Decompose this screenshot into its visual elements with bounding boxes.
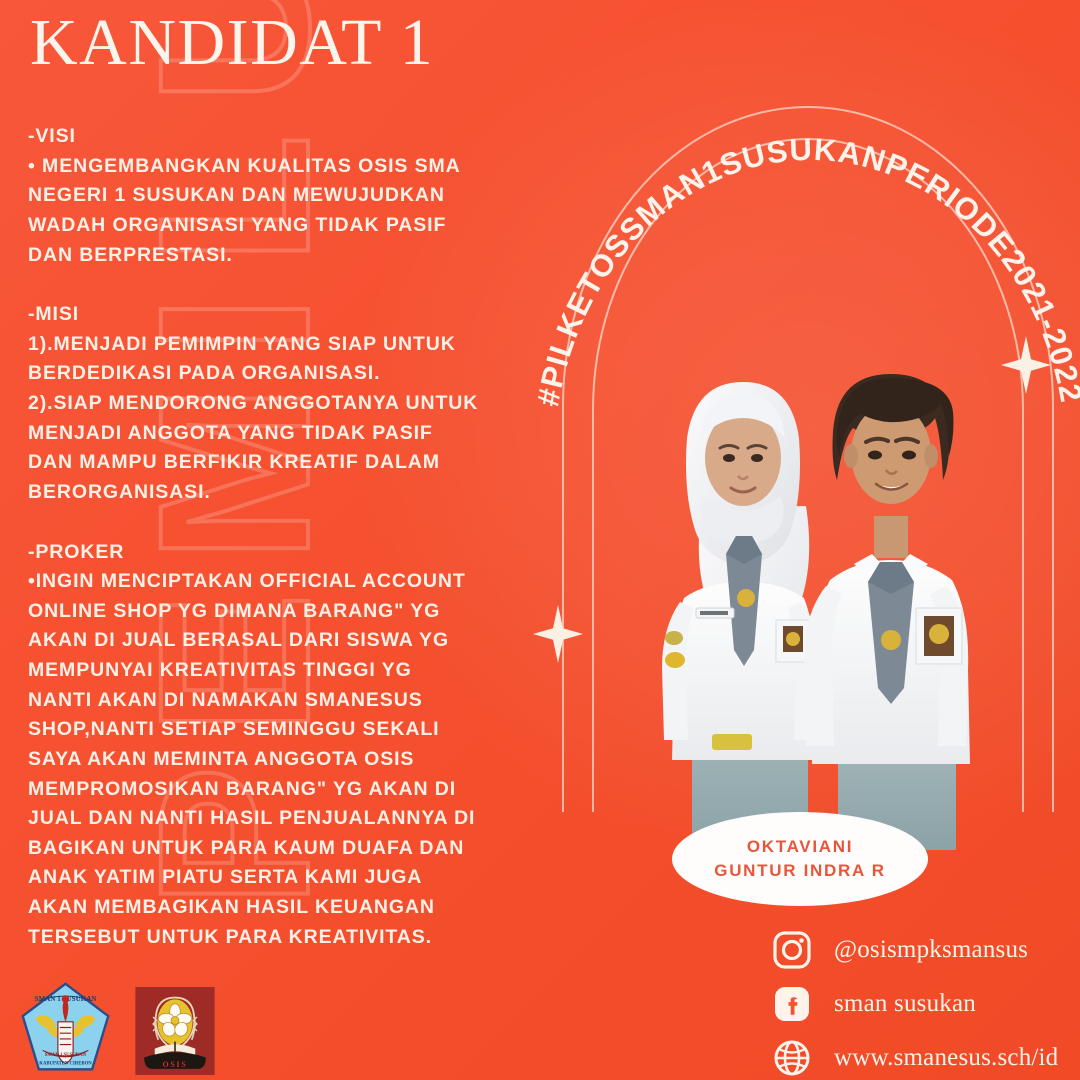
section-proker: -PROKER •INGIN MENCIPTAKAN OFFICIAL ACCO… bbox=[28, 538, 533, 953]
social-row-facebook[interactable]: sman susukan bbox=[772, 984, 1058, 1024]
vision-mission-program-text: -VISI • MENGEMBANGKAN KUALITAS OSIS SMA … bbox=[28, 122, 533, 952]
section-body: 1).MENJADI PEMIMPIN YANG SIAP UNTUK BERD… bbox=[28, 330, 533, 508]
instagram-icon bbox=[772, 930, 812, 970]
instagram-handle: @osismpksmansus bbox=[834, 936, 1028, 964]
candidate-name-line-2: GUNTUR INDRA R bbox=[714, 861, 885, 881]
svg-text:KABUPATEN CIREBON: KABUPATEN CIREBON bbox=[39, 1062, 92, 1067]
section-misi: -MISI 1).MENJADI PEMIMPIN YANG SIAP UNTU… bbox=[28, 300, 533, 507]
social-row-website[interactable]: www.smanesus.sch/id bbox=[772, 1038, 1058, 1078]
text-line: 2).SIAP MENDORONG ANGGOTANYA UNTUK bbox=[28, 389, 533, 419]
text-line: NEGERI 1 SUSUKAN DAN MEWUJUDKAN bbox=[28, 181, 533, 211]
social-row-instagram[interactable]: @osismpksmansus bbox=[772, 930, 1058, 970]
text-line: DAN BERPRESTASI. bbox=[28, 241, 533, 271]
globe-icon bbox=[772, 1038, 812, 1078]
text-line: SHOP,NANTI SETIAP SEMINGGU SEKALI bbox=[28, 715, 533, 745]
text-line: JUAL DAN NANTI HASIL PENJUALANNYA DI bbox=[28, 804, 533, 834]
svg-text:OSIS: OSIS bbox=[162, 1060, 187, 1069]
text-line: WADAH ORGANISASI YANG TIDAK PASIF bbox=[28, 211, 533, 241]
logo-strip: SMAN 1 SUSUKAN SMAN 1 SUSUKAN KABUPATEN … bbox=[18, 980, 215, 1075]
text-line: 1).MENJADI PEMIMPIN YANG SIAP UNTUK bbox=[28, 330, 533, 360]
osis-logo: OSIS bbox=[135, 987, 215, 1075]
text-line: DAN MAMPU BERFIKIR KREATIF DALAM bbox=[28, 448, 533, 478]
section-heading: -VISI bbox=[28, 122, 533, 152]
text-line: ANAK YATIM PIATU SERTA KAMI JUGA bbox=[28, 863, 533, 893]
text-line: • MENGEMBANGKAN KUALITAS OSIS SMA bbox=[28, 152, 533, 182]
social-links: @osismpksmansus sman susukan bbox=[772, 930, 1058, 1078]
text-line: •INGIN MENCIPTAKAN OFFICIAL ACCOUNT bbox=[28, 567, 533, 597]
text-line: BAGIKAN UNTUK PARA KAUM DUAFA DAN bbox=[28, 834, 533, 864]
text-line: SAYA AKAN MEMINTA ANGGOTA OSIS bbox=[28, 745, 533, 775]
text-line: MEMPROMOSIKAN BARANG" YG AKAN DI bbox=[28, 775, 533, 805]
svg-text:SMAN 1 SUSUKAN: SMAN 1 SUSUKAN bbox=[45, 1053, 87, 1058]
section-heading: -MISI bbox=[28, 300, 533, 330]
candidate-name-badge: OKTAVIANI GUNTUR INDRA R bbox=[672, 812, 928, 906]
text-line: BERORGANISASI. bbox=[28, 478, 533, 508]
text-line: MEMPUNYAI KREATIVITAS TINGGI YG bbox=[28, 656, 533, 686]
candidate-photo bbox=[580, 330, 1030, 850]
facebook-icon bbox=[772, 984, 812, 1024]
section-visi: -VISI • MENGEMBANGKAN KUALITAS OSIS SMA … bbox=[28, 122, 533, 270]
text-line: AKAN DI JUAL BERASAL DARI SISWA YG bbox=[28, 626, 533, 656]
text-line: TERSEBUT UNTUK PARA KREATIVITAS. bbox=[28, 923, 533, 953]
section-body: • MENGEMBANGKAN KUALITAS OSIS SMA NEGERI… bbox=[28, 152, 533, 271]
text-line: AKAN MEMBAGIKAN HASIL KEUANGAN bbox=[28, 893, 533, 923]
facebook-page: sman susukan bbox=[834, 990, 976, 1018]
poster-canvas: PEMILUK #PILKETOSSMAN1SUSUKANPERIODE2021… bbox=[0, 0, 1080, 1080]
section-heading: -PROKER bbox=[28, 538, 533, 568]
school-logo: SMAN 1 SUSUKAN SMAN 1 SUSUKAN KABUPATEN … bbox=[18, 980, 113, 1075]
website-url: www.smanesus.sch/id bbox=[834, 1044, 1058, 1072]
page-title: KANDIDAT 1 bbox=[30, 8, 434, 77]
text-line: BERDEDIKASI PADA ORGANISASI. bbox=[28, 359, 533, 389]
text-line: MENJADI ANGGOTA YANG TIDAK PASIF bbox=[28, 419, 533, 449]
section-body: •INGIN MENCIPTAKAN OFFICIAL ACCOUNT ONLI… bbox=[28, 567, 533, 952]
text-line: ONLINE SHOP YG DIMANA BARANG" YG bbox=[28, 597, 533, 627]
candidate-name-line-1: OKTAVIANI bbox=[747, 837, 853, 857]
text-line: NANTI AKAN DI NAMAKAN SMANESUS bbox=[28, 686, 533, 716]
